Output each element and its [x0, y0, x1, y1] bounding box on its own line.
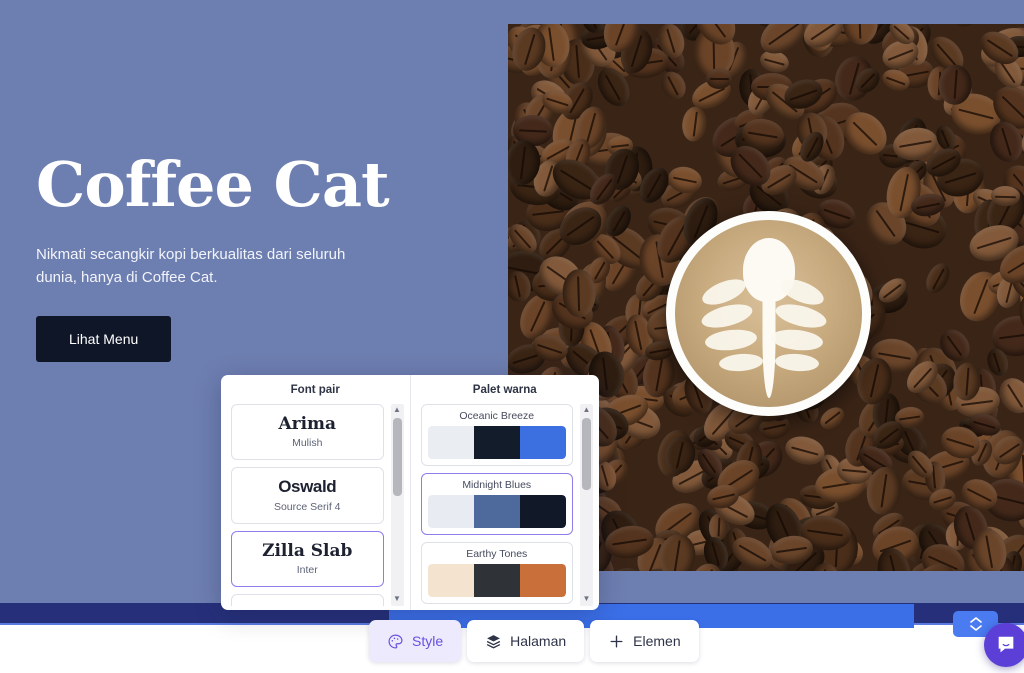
- coffee-bean-crease: [899, 416, 920, 421]
- coffee-bean-crease: [518, 130, 547, 133]
- coffee-bean-crease: [932, 268, 945, 289]
- coffee-bean-crease: [514, 276, 521, 298]
- coffee-bean-crease: [711, 542, 720, 566]
- coffee-bean-crease: [567, 216, 595, 236]
- coffee-bean-crease: [985, 536, 993, 568]
- font-pair-header: Font pair: [221, 384, 410, 404]
- coffee-bean-crease: [666, 29, 675, 53]
- coffee-bean-crease: [913, 367, 932, 388]
- font-primary-name: Arima: [238, 414, 377, 434]
- palette-header: Palet warna: [411, 384, 600, 404]
- coffee-bean-crease: [900, 175, 909, 212]
- coffee-bean-crease: [532, 210, 563, 216]
- palette-swatch: [428, 564, 474, 597]
- latte-petal: [704, 327, 758, 352]
- font-pair-card[interactable]: OswaldSource Serif 4: [231, 467, 384, 523]
- coffee-bean-crease: [612, 211, 625, 232]
- coffee-bean-crease: [577, 276, 580, 311]
- coffee-bean-crease: [776, 547, 807, 553]
- coffee-bean-crease: [615, 24, 628, 45]
- layers-icon: [485, 633, 502, 650]
- palette-swatch: [474, 426, 520, 459]
- coffee-bean-crease: [587, 24, 597, 29]
- palette-name: Oceanic Breeze: [428, 410, 567, 422]
- coffee-bean-crease: [965, 368, 969, 395]
- coffee-bean-crease: [894, 25, 911, 40]
- palette-card[interactable]: Midnight Blues: [421, 473, 574, 535]
- coffee-bean-crease: [710, 78, 729, 80]
- tab-label: Style: [412, 633, 443, 649]
- coffee-bean-crease: [704, 24, 726, 37]
- coffee-bean-crease: [634, 320, 642, 350]
- coffee-bean-crease: [1001, 127, 1012, 156]
- coffee-bean-crease: [673, 176, 697, 183]
- palette-swatch: [474, 564, 520, 597]
- palette-list-scrollbar[interactable]: ▲ ▼: [580, 404, 593, 606]
- latte-petal: [718, 352, 763, 372]
- palette-swatch: [428, 495, 474, 528]
- coffee-bean-crease: [698, 87, 725, 102]
- coffee-bean-crease: [916, 202, 940, 208]
- coffee-bean-crease: [954, 70, 958, 99]
- coffee-bean-crease: [889, 555, 899, 571]
- editor-toolbar[interactable]: StyleHalamanElemen: [369, 620, 699, 662]
- coffee-bean-crease: [768, 24, 800, 45]
- coffee-bean-crease: [791, 446, 819, 455]
- coffee-bean: [921, 260, 954, 298]
- coffee-bean-crease: [655, 358, 663, 391]
- tab-elemen[interactable]: Elemen: [590, 620, 698, 662]
- coffee-bean-crease: [879, 428, 899, 444]
- latte-petal: [774, 352, 819, 372]
- coffee-bean-crease: [605, 74, 621, 101]
- coffee-bean-crease: [999, 443, 1020, 458]
- coffee-bean-crease: [941, 129, 950, 147]
- palette-name: Earthy Tones: [428, 548, 567, 560]
- tab-halaman[interactable]: Halaman: [467, 620, 584, 662]
- tab-label: Halaman: [510, 633, 566, 649]
- coffee-bean-crease: [852, 121, 878, 146]
- coffee-bean-crease: [512, 355, 540, 366]
- coffee-bean-crease: [973, 279, 988, 314]
- lihat-menu-button[interactable]: Lihat Menu: [36, 316, 171, 362]
- coffee-bean-crease: [973, 421, 995, 429]
- coffee-bean-crease: [520, 147, 526, 180]
- palette-column: Palet warna Oceanic BreezeMidnight Blues…: [410, 375, 600, 610]
- coffee-bean-crease: [649, 348, 670, 354]
- coffee-bean-crease: [880, 474, 887, 508]
- coffee-bean-crease: [676, 441, 684, 468]
- coffee-bean-crease: [1000, 62, 1016, 84]
- coffee-bean-crease: [824, 569, 827, 571]
- font-primary-name: Ubuntu: [238, 604, 377, 606]
- coffee-bean-crease: [947, 335, 963, 356]
- palette-card[interactable]: Earthy Tones: [421, 542, 574, 604]
- coffee-bean-crease: [888, 49, 914, 61]
- page-title: Coffee Cat: [36, 152, 476, 217]
- palette-swatch: [520, 495, 566, 528]
- palette-card[interactable]: Oceanic Breeze: [421, 404, 574, 466]
- coffee-bean-crease: [514, 230, 531, 249]
- coffee-bean-crease: [549, 28, 556, 61]
- font-primary-name: Zilla Slab: [238, 541, 377, 561]
- coffee-bean-crease: [810, 24, 837, 40]
- coffee-bean-crease: [764, 424, 786, 431]
- coffee-bean-crease: [543, 165, 553, 191]
- coffee-bean-crease: [995, 195, 1016, 198]
- coffee-bean-crease: [612, 539, 647, 546]
- coffee-bean-crease: [712, 494, 735, 501]
- hero-subtitle: Nikmati secangkir kopi berkualitas dari …: [36, 243, 376, 290]
- coffee-bean-crease: [977, 237, 1012, 250]
- chat-bubble-icon: [995, 634, 1017, 656]
- coffee-bean-crease: [823, 209, 851, 220]
- coffee-bean-crease: [870, 365, 879, 399]
- coffee-bean-crease: [825, 412, 841, 425]
- coffee-bean-crease: [863, 453, 887, 468]
- font-pair-column: Font pair ArimaMulishOswaldSource Serif …: [221, 375, 410, 610]
- coffee-bean-crease: [994, 352, 1002, 372]
- coffee-bean-crease: [718, 517, 721, 536]
- coffee-bean-crease: [524, 34, 535, 65]
- coffee-bean-crease: [693, 112, 698, 137]
- coffee-bean-crease: [700, 569, 714, 571]
- coffee-bean-crease: [841, 469, 866, 473]
- tab-label: Elemen: [633, 633, 680, 649]
- coffee-bean-crease: [738, 154, 762, 179]
- palette-swatch: [474, 495, 520, 528]
- latte-art: [675, 220, 862, 407]
- coffee-bean-crease: [593, 261, 605, 280]
- scroll-thumb[interactable]: [393, 418, 402, 496]
- coffee-bean-crease: [586, 112, 596, 143]
- coffee-bean-crease: [1007, 254, 1024, 274]
- coffee-bean-crease: [858, 24, 861, 39]
- coffee-bean-crease: [764, 58, 784, 65]
- scroll-up-icon[interactable]: ▲: [583, 404, 591, 415]
- palette-swatches: [428, 426, 567, 459]
- coffee-bean-crease: [575, 45, 580, 78]
- palette-name: Midnight Blues: [428, 479, 567, 491]
- coffee-bean-crease: [932, 156, 957, 170]
- coffee-bean-crease: [596, 178, 612, 200]
- chevron-up-down-icon: [968, 615, 984, 633]
- coffee-bean-crease: [560, 169, 592, 190]
- style-popover[interactable]: Font pair ArimaMulishOswaldSource Serif …: [221, 375, 599, 610]
- coffee-bean-crease: [958, 109, 993, 120]
- latte-petal: [699, 300, 754, 332]
- coffee-bean-crease: [904, 430, 915, 452]
- scroll-up-icon[interactable]: ▲: [393, 404, 401, 415]
- coffee-bean-crease: [946, 438, 973, 448]
- latte-cup: [666, 211, 871, 416]
- coffee-bean: [817, 403, 849, 433]
- latte-petal: [770, 327, 824, 352]
- font-pair-list[interactable]: ArimaMulishOswaldSource Serif 4Zilla Sla…: [231, 404, 386, 606]
- coffee-bean-crease: [883, 284, 902, 299]
- font-pair-card[interactable]: ArimaMulish: [231, 404, 384, 460]
- palette-swatch: [520, 426, 566, 459]
- coffee-bean-crease: [616, 155, 628, 184]
- tab-style[interactable]: Style: [369, 620, 461, 662]
- latte-petal: [773, 300, 828, 332]
- coffee-bean-crease: [967, 488, 992, 502]
- chat-bubble-button[interactable]: [984, 623, 1024, 667]
- font-secondary-name: Source Serif 4: [238, 501, 377, 513]
- plus-icon: [608, 633, 625, 650]
- hero-text-block: Coffee Cat Nikmati secangkir kopi berkua…: [36, 152, 476, 362]
- coffee-bean-crease: [999, 333, 1024, 340]
- coffee-bean-crease: [603, 358, 609, 391]
- coffee-bean-crease: [739, 545, 767, 562]
- palette-swatch: [428, 426, 474, 459]
- coffee-bean-crease: [546, 98, 568, 107]
- palette-swatches: [428, 495, 567, 528]
- coffee-bean-crease: [748, 131, 778, 138]
- scroll-thumb[interactable]: [582, 418, 591, 490]
- font-secondary-name: Mulish: [238, 437, 377, 449]
- coffee-bean-crease: [667, 76, 678, 95]
- coffee-bean-crease: [860, 73, 875, 88]
- font-pair-card[interactable]: UbuntuSource Sans 3: [231, 594, 384, 606]
- font-pair-card[interactable]: Zilla SlabInter: [231, 531, 384, 587]
- coffee-bean-crease: [767, 173, 791, 189]
- font-secondary-name: Inter: [238, 564, 377, 576]
- coffee-bean-crease: [647, 173, 662, 197]
- scroll-down-icon[interactable]: ▼: [583, 593, 591, 604]
- coffee-bean-crease: [790, 89, 817, 100]
- coffee-bean: [951, 24, 982, 30]
- coffee-bean-crease: [600, 465, 608, 486]
- coffee-bean-crease: [986, 39, 1012, 57]
- coffee-bean-crease: [702, 453, 717, 473]
- palette-list[interactable]: Oceanic BreezeMidnight BluesEarthy Tones…: [421, 404, 576, 606]
- font-list-scrollbar[interactable]: ▲ ▼: [391, 404, 404, 606]
- coffee-bean-crease: [1007, 384, 1023, 407]
- coffee-bean-crease: [538, 343, 564, 353]
- coffee-bean-crease: [530, 301, 546, 332]
- font-primary-name: Oswald: [238, 477, 377, 497]
- coffee-bean-crease: [933, 497, 952, 505]
- scroll-down-icon[interactable]: ▼: [393, 593, 401, 604]
- palette-icon: [387, 633, 404, 650]
- coffee-bean-crease: [885, 76, 905, 85]
- palette-swatches: [428, 564, 567, 597]
- coffee-bean-crease: [937, 42, 958, 65]
- coffee-bean-crease: [899, 140, 931, 148]
- coffee-bean-crease: [806, 137, 818, 158]
- coffee-bean-crease: [1002, 96, 1024, 121]
- coffee-bean-crease: [912, 456, 928, 474]
- coffee-bean-crease: [674, 540, 681, 571]
- coffee-bean-crease: [807, 530, 843, 537]
- coffee-bean: [681, 105, 709, 143]
- palette-swatch: [520, 564, 566, 597]
